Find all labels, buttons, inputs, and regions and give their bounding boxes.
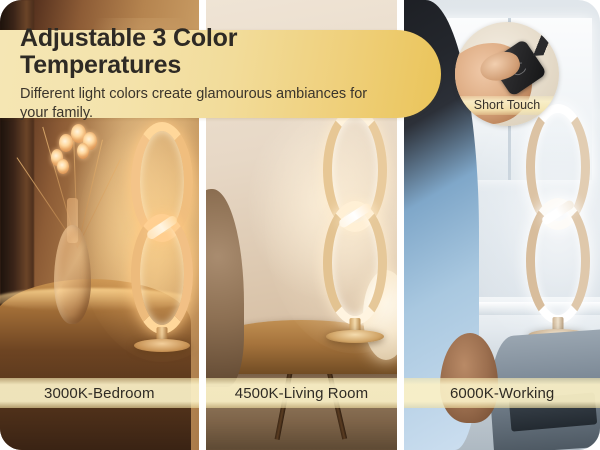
headline-banner: Adjustable 3 Color Temperatures Differen… xyxy=(0,30,441,118)
short-touch-badge: Short Touch xyxy=(455,22,559,126)
power-cable xyxy=(523,25,559,57)
table-lamp xyxy=(123,122,199,352)
armchair xyxy=(206,189,244,387)
table-lamp xyxy=(518,104,598,342)
banner-subtext: Different light colors create glamourous… xyxy=(20,85,375,123)
product-feature-card: 3000K-Bedroom xyxy=(0,0,600,450)
lamp-base xyxy=(134,339,190,352)
flower-icon xyxy=(77,143,89,159)
short-touch-label: Short Touch xyxy=(455,96,559,115)
panel-caption-3000k: 3000K-Bedroom xyxy=(0,378,199,408)
table-lamp xyxy=(315,108,395,343)
stem xyxy=(77,159,121,248)
flower-icon xyxy=(57,159,68,174)
page-title: Adjustable 3 Color Temperatures xyxy=(20,25,381,80)
panel-caption-6000k: 6000K-Working xyxy=(404,378,600,408)
lamp-base xyxy=(326,330,384,343)
panel-caption-4500k: 4500K-Living Room xyxy=(206,378,398,408)
cable-grip xyxy=(553,30,559,39)
